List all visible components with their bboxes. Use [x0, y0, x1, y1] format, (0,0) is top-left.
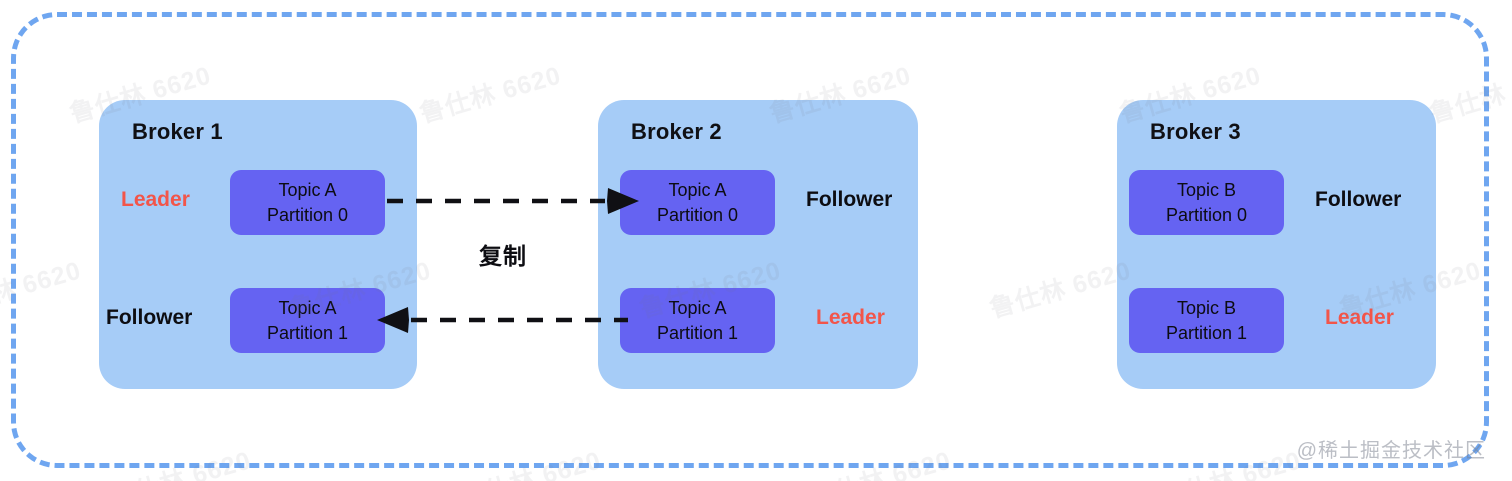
role-label-broker1-partition1: Follower	[106, 306, 192, 330]
partition-chip-broker2-topicA-p1[interactable]: Topic A Partition 1	[620, 288, 775, 353]
role-label-broker3-partition0: Follower	[1315, 188, 1401, 212]
credit-watermark: @稀土掘金技术社区	[1297, 434, 1486, 463]
broker-box-1[interactable]: Broker 1 Leader Topic A Partition 0 Foll…	[99, 100, 417, 389]
partition-index: Partition 0	[267, 203, 348, 228]
partition-chip-broker1-topicA-p0[interactable]: Topic A Partition 0	[230, 170, 385, 235]
partition-chip-broker3-topicB-p0[interactable]: Topic B Partition 0	[1129, 170, 1284, 235]
replicate-label: 复制	[479, 237, 527, 271]
broker-box-2[interactable]: Broker 2 Topic A Partition 0 Follower To…	[598, 100, 918, 389]
partition-topic: Topic A	[278, 296, 336, 321]
role-label-broker2-partition0: Follower	[806, 188, 892, 212]
role-label-broker2-partition1: Leader	[816, 306, 885, 330]
partition-chip-broker3-topicB-p1[interactable]: Topic B Partition 1	[1129, 288, 1284, 353]
partition-index: Partition 1	[1166, 321, 1247, 346]
partition-index: Partition 0	[1166, 203, 1247, 228]
partition-chip-broker2-topicA-p0[interactable]: Topic A Partition 0	[620, 170, 775, 235]
broker-box-3[interactable]: Broker 3 Topic B Partition 0 Follower To…	[1117, 100, 1436, 389]
broker-title: Broker 3	[1150, 119, 1241, 145]
broker-title: Broker 2	[631, 119, 722, 145]
partition-index: Partition 1	[657, 321, 738, 346]
diagram-canvas: 鲁仕林 6620 鲁仕林 6620 鲁仕林 6620 鲁仕林 6620 鲁仕林 …	[0, 0, 1512, 481]
partition-topic: Topic A	[278, 178, 336, 203]
partition-index: Partition 1	[267, 321, 348, 346]
partition-topic: Topic A	[668, 296, 726, 321]
partition-topic: Topic A	[668, 178, 726, 203]
partition-topic: Topic B	[1177, 178, 1236, 203]
broker-title: Broker 1	[132, 119, 223, 145]
partition-chip-broker1-topicA-p1[interactable]: Topic A Partition 1	[230, 288, 385, 353]
partition-index: Partition 0	[657, 203, 738, 228]
role-label-broker3-partition1: Leader	[1325, 306, 1394, 330]
partition-topic: Topic B	[1177, 296, 1236, 321]
role-label-broker1-partition0: Leader	[121, 188, 190, 212]
